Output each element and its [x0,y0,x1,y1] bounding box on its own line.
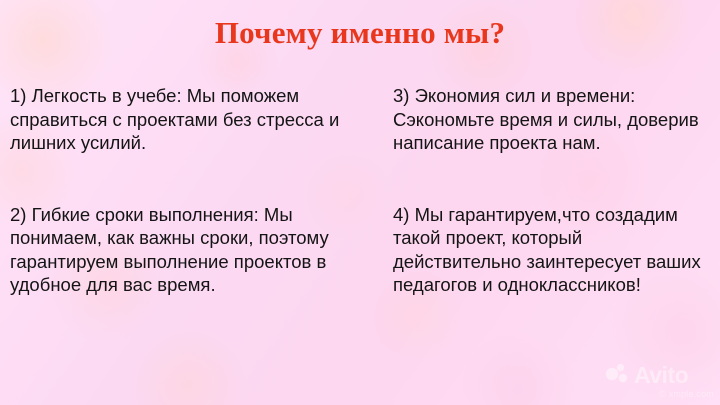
benefit-item-3: 3) Экономия сил и времени: Сэкономьте вр… [393,84,713,155]
watermark-brand-label: Avito [634,364,688,387]
watermark-logo-row: Avito [606,362,714,388]
poster-canvas: Почему именно мы? 1) Легкость в учебе: М… [0,0,720,405]
benefit-item-1: 1) Легкость в учебе: Мы поможем справить… [10,84,365,155]
benefit-item-2: 2) Гибкие сроки выполнения: Мы понимаем,… [10,203,365,297]
left-column: 1) Легкость в учебе: Мы поможем справить… [10,84,365,297]
avito-watermark: Avito © xmple.com [606,362,714,402]
avito-circles-icon [606,364,632,386]
right-column: 3) Экономия сил и времени: Сэкономьте вр… [393,84,713,297]
page-title: Почему именно мы? [0,15,720,51]
benefit-item-4: 4) Мы гарантируем,что создадим такой про… [393,203,713,297]
watermark-source-label: © xmple.com [606,389,714,400]
